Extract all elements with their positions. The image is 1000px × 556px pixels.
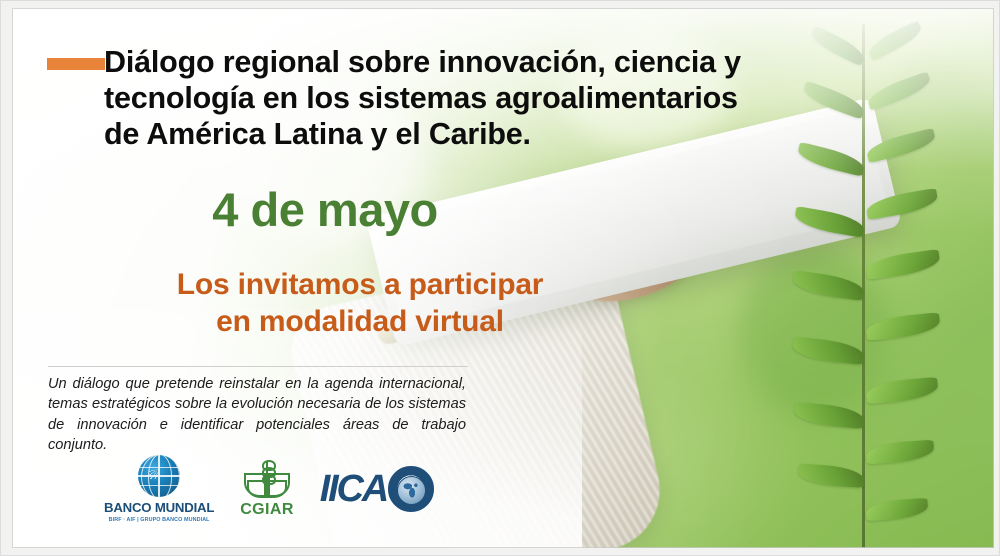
description-paragraph: Un diálogo que pretende reinstalar en la…: [48, 374, 466, 456]
invitation-line-2: en modalidad virtual: [0, 304, 720, 341]
headline-line-2: tecnología en los sistemas agroalimentar…: [104, 80, 910, 116]
headline-line-3: de América Latina y el Caribe.: [104, 116, 910, 152]
world-bank-name: BANCO MUNDIAL: [104, 500, 214, 515]
iica-lockup: IICA: [320, 466, 434, 512]
cgiar-name: CGIAR: [240, 501, 294, 519]
headline-line-1: Diálogo regional sobre innovación, cienc…: [104, 44, 910, 80]
event-date: 4 de mayo: [0, 186, 650, 233]
logo-iica: IICA: [320, 466, 434, 512]
rays-icon: [149, 459, 169, 479]
logo-cgiar: CGIAR: [240, 459, 294, 519]
leaf-wing: [265, 480, 287, 498]
poster-content: Diálogo regional sobre innovación, cienc…: [0, 0, 1000, 556]
divider-rule: [48, 366, 468, 367]
parallel: [138, 485, 180, 486]
invitation-line-1: Los invitamos a participar: [0, 267, 720, 304]
globe-seal-icon: [388, 466, 434, 512]
world-bank-subtitle: BIRF · AIF | GRUPO BANCO MUNDIAL: [109, 517, 210, 523]
iica-name: IICA: [320, 470, 387, 508]
orange-accent-dash: [47, 58, 105, 70]
partner-logos: BANCO MUNDIAL BIRF · AIF | GRUPO BANCO M…: [104, 456, 434, 522]
invitation-text: Los invitamos a participar en modalidad …: [0, 267, 720, 341]
globe-icon: [138, 455, 180, 497]
page-title: Diálogo regional sobre innovación, cienc…: [104, 44, 910, 152]
logo-world-bank: BANCO MUNDIAL BIRF · AIF | GRUPO BANCO M…: [104, 455, 214, 523]
wheat-emblem-icon: [244, 459, 290, 499]
event-poster: Diálogo regional sobre innovación, cienc…: [0, 0, 1000, 556]
